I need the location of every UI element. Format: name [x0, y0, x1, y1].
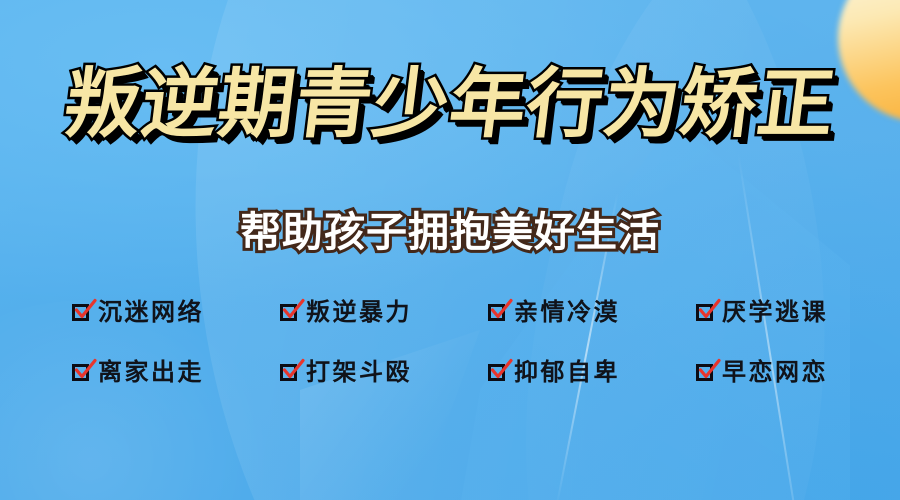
headline-container: 叛逆期青少年行为矫正: [0, 63, 900, 145]
page-subtitle: 帮助孩子拥抱美好生活: [240, 198, 660, 258]
checkbox-checked-icon[interactable]: [488, 302, 509, 323]
list-item-label: 早恋网恋: [722, 360, 828, 384]
list-item-label: 沉迷网络: [98, 300, 204, 324]
checkbox-checked-icon[interactable]: [72, 302, 93, 323]
checklist-row: 离家出走 打架斗殴 抑郁自卑: [72, 352, 828, 392]
list-item[interactable]: 叛逆暴力: [280, 300, 412, 324]
promo-banner: 叛逆期青少年行为矫正 帮助孩子拥抱美好生活 沉迷网络: [0, 0, 900, 500]
list-item-label: 亲情冷漠: [514, 300, 620, 324]
list-item-label: 打架斗殴: [306, 360, 412, 384]
checkbox-checked-icon[interactable]: [72, 362, 93, 383]
subtitle-container: 帮助孩子拥抱美好生活: [0, 198, 900, 258]
checklist: 沉迷网络 叛逆暴力 亲情冷漠: [72, 292, 828, 412]
list-item[interactable]: 打架斗殴: [280, 360, 412, 384]
checkbox-checked-icon[interactable]: [696, 302, 717, 323]
page-title: 叛逆期青少年行为矫正: [60, 63, 840, 145]
list-item-label: 离家出走: [98, 360, 204, 384]
list-item-label: 叛逆暴力: [306, 300, 412, 324]
list-item[interactable]: 沉迷网络: [72, 300, 204, 324]
list-item[interactable]: 厌学逃课: [696, 300, 828, 324]
list-item-label: 厌学逃课: [722, 300, 828, 324]
checkbox-checked-icon[interactable]: [280, 302, 301, 323]
checkbox-checked-icon[interactable]: [280, 362, 301, 383]
checklist-row: 沉迷网络 叛逆暴力 亲情冷漠: [72, 292, 828, 332]
list-item-label: 抑郁自卑: [514, 360, 620, 384]
list-item[interactable]: 抑郁自卑: [488, 360, 620, 384]
checkbox-checked-icon[interactable]: [696, 362, 717, 383]
list-item[interactable]: 离家出走: [72, 360, 204, 384]
list-item[interactable]: 亲情冷漠: [488, 300, 620, 324]
checkbox-checked-icon[interactable]: [488, 362, 509, 383]
list-item[interactable]: 早恋网恋: [696, 360, 828, 384]
